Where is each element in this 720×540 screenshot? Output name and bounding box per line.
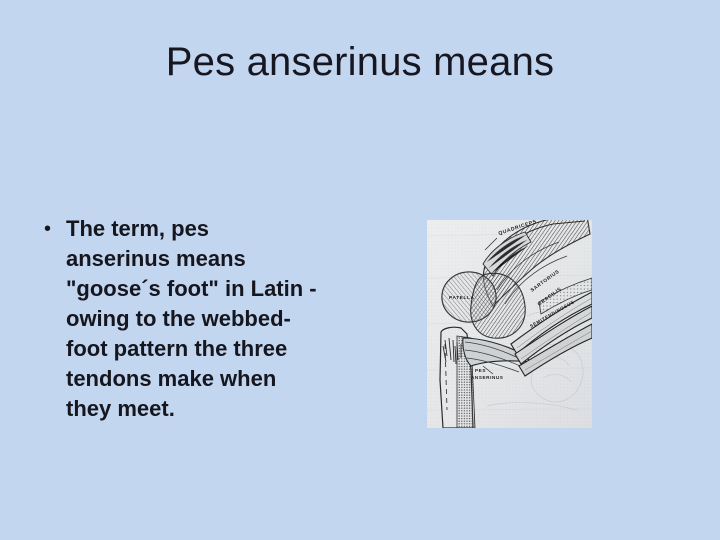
slide-title: Pes anserinus means xyxy=(60,38,660,86)
bullet-line: anserinus means xyxy=(66,244,380,274)
knee-anatomy-svg: QUADRICEPS PATELLA SARTORIUS GRACILIS SE… xyxy=(427,220,592,428)
bullet-line: tendons make when xyxy=(66,364,380,394)
knee-anatomy-image: QUADRICEPS PATELLA SARTORIUS GRACILIS SE… xyxy=(427,220,592,428)
bullet-line: they meet. xyxy=(66,394,380,424)
bullet-line: owing to the webbed- xyxy=(66,304,380,334)
bullet-line: foot pattern the three xyxy=(66,334,380,364)
bullet-marker-icon: • xyxy=(40,214,66,244)
bullet-text: The term, pes anserinus means "goose´s f… xyxy=(66,214,380,424)
bullet-line: The term, pes xyxy=(66,214,380,244)
slide-canvas: Pes anserinus means • The term, pes anse… xyxy=(0,0,720,540)
bullet-line: "goose´s foot" in Latin - xyxy=(66,274,380,304)
bullet-list: • The term, pes anserinus means "goose´s… xyxy=(40,214,380,424)
list-item: • The term, pes anserinus means "goose´s… xyxy=(40,214,380,424)
